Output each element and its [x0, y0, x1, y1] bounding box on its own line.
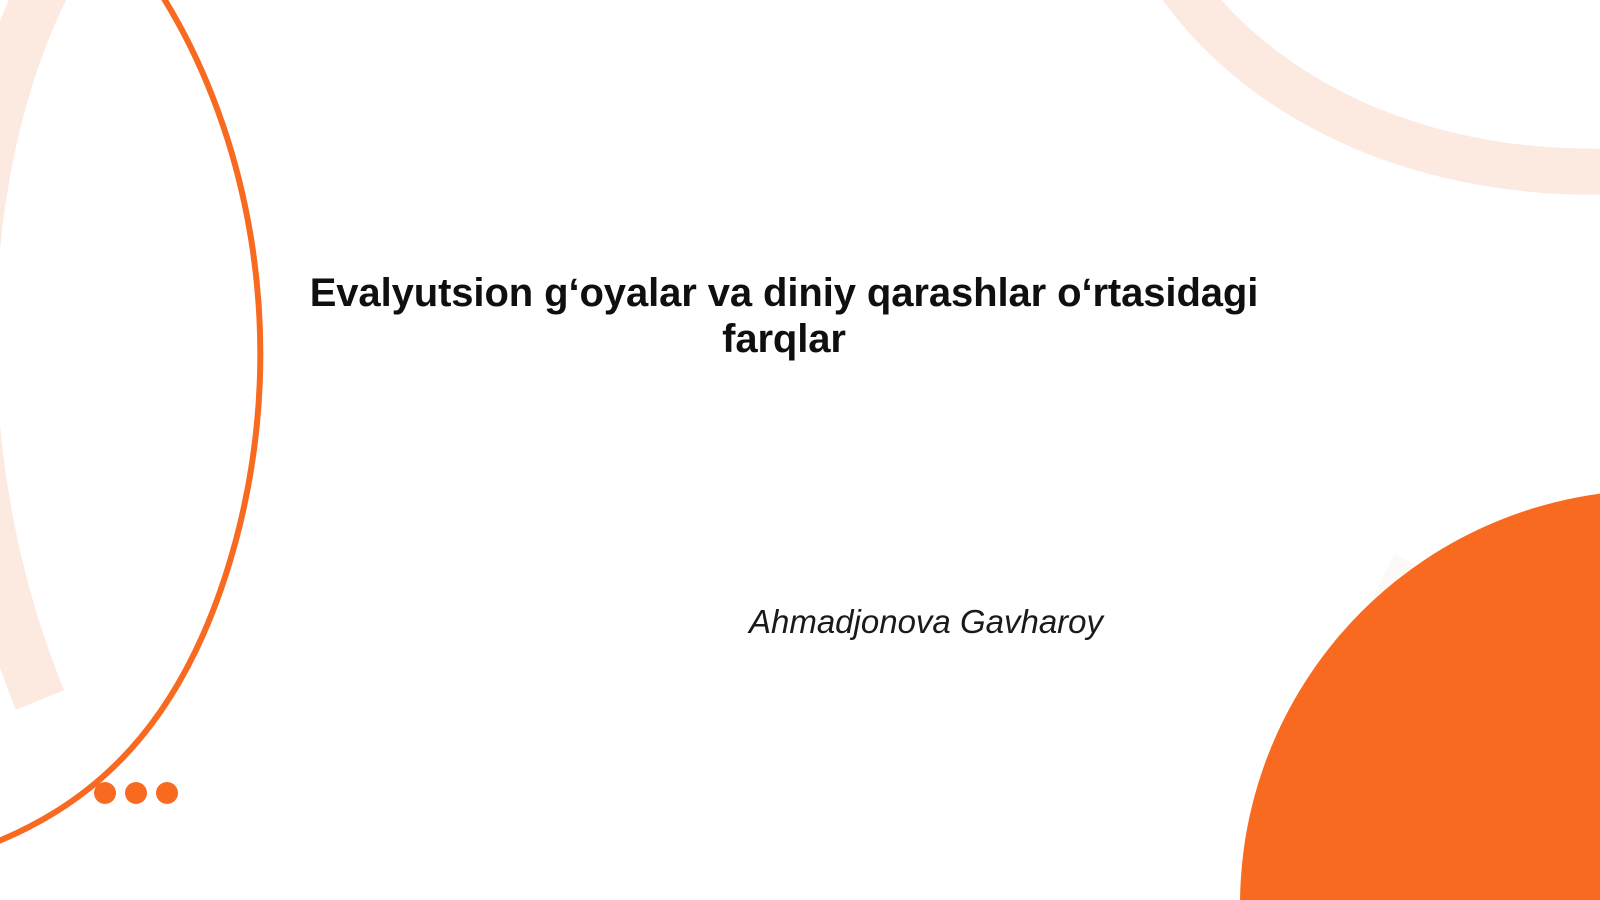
subtitle-placeholder[interactable]: Ahmadjonova Gavharoy: [526, 602, 1326, 642]
slide-content: Evalyutsion gʻoyalar va diniy qarashlar …: [0, 0, 1600, 900]
slide-subtitle-author: Ahmadjonova Gavharoy: [526, 602, 1326, 642]
slide-title: Evalyutsion gʻoyalar va diniy qarashlar …: [284, 270, 1284, 363]
presentation-slide: Evalyutsion gʻoyalar va diniy qarashlar …: [0, 0, 1600, 900]
title-placeholder[interactable]: Evalyutsion gʻoyalar va diniy qarashlar …: [284, 270, 1284, 363]
